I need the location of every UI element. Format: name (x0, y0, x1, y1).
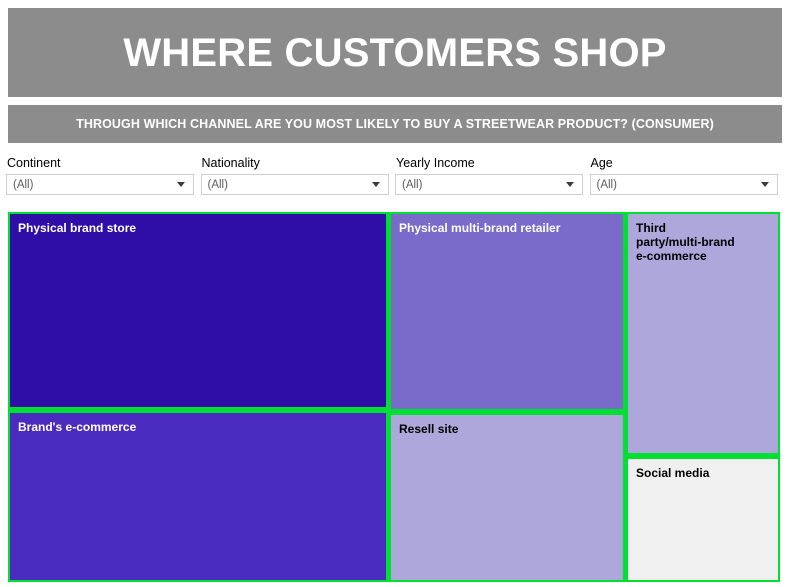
treemap-cell-resell-site[interactable]: Resell site (391, 415, 623, 580)
filter-continent-select[interactable]: (All) (6, 174, 194, 195)
treemap-cell-label: Social media (628, 459, 778, 480)
filter-continent-label: Continent (6, 156, 201, 170)
chevron-down-icon[interactable] (566, 182, 574, 187)
treemap-cell-label: Physical multi-brand retailer (391, 214, 623, 235)
treemap-cell-physical-multi-brand-retailer[interactable]: Physical multi-brand retailer (391, 214, 623, 409)
filter-continent: Continent (All) (6, 156, 201, 200)
chevron-down-icon[interactable] (372, 182, 380, 187)
filter-age-value: (All) (591, 179, 761, 191)
filter-bar: Continent (All) Nationality (All) Yearly… (6, 156, 784, 200)
filter-nationality-select[interactable]: (All) (201, 174, 389, 195)
filter-age: Age (All) (590, 156, 785, 200)
filter-nationality-value: (All) (202, 179, 372, 191)
treemap-cell-physical-brand-store[interactable]: Physical brand store (10, 214, 386, 407)
treemap-cell-social-media[interactable]: Social media (628, 459, 778, 580)
filter-age-select[interactable]: (All) (590, 174, 778, 195)
chevron-down-icon[interactable] (177, 182, 185, 187)
treemap-chart: Physical brand store Brand's e-commerce … (8, 212, 780, 582)
chevron-down-icon[interactable] (761, 182, 769, 187)
filter-nationality: Nationality (All) (201, 156, 396, 200)
filter-yearly-income-label: Yearly Income (395, 156, 590, 170)
page-subtitle: THROUGH WHICH CHANNEL ARE YOU MOST LIKEL… (76, 117, 714, 131)
dashboard-subtitle-banner: THROUGH WHICH CHANNEL ARE YOU MOST LIKEL… (8, 105, 782, 143)
treemap-cell-brands-ecommerce[interactable]: Brand's e-commerce (10, 413, 386, 580)
filter-yearly-income: Yearly Income (All) (395, 156, 590, 200)
treemap-cell-label: Physical brand store (10, 214, 386, 235)
treemap-cell-label: Third party/multi-brand e-commerce (628, 214, 778, 263)
filter-continent-value: (All) (7, 179, 177, 191)
treemap-cell-third-party-multi-brand-ecommerce[interactable]: Third party/multi-brand e-commerce (628, 214, 778, 453)
filter-nationality-label: Nationality (201, 156, 396, 170)
filter-yearly-income-value: (All) (396, 179, 566, 191)
filter-age-label: Age (590, 156, 785, 170)
dashboard-title-banner: WHERE CUSTOMERS SHOP (8, 8, 782, 97)
page-title: WHERE CUSTOMERS SHOP (123, 33, 666, 73)
treemap-cell-label: Resell site (391, 415, 623, 436)
filter-yearly-income-select[interactable]: (All) (395, 174, 583, 195)
treemap-cell-label: Brand's e-commerce (10, 413, 386, 434)
